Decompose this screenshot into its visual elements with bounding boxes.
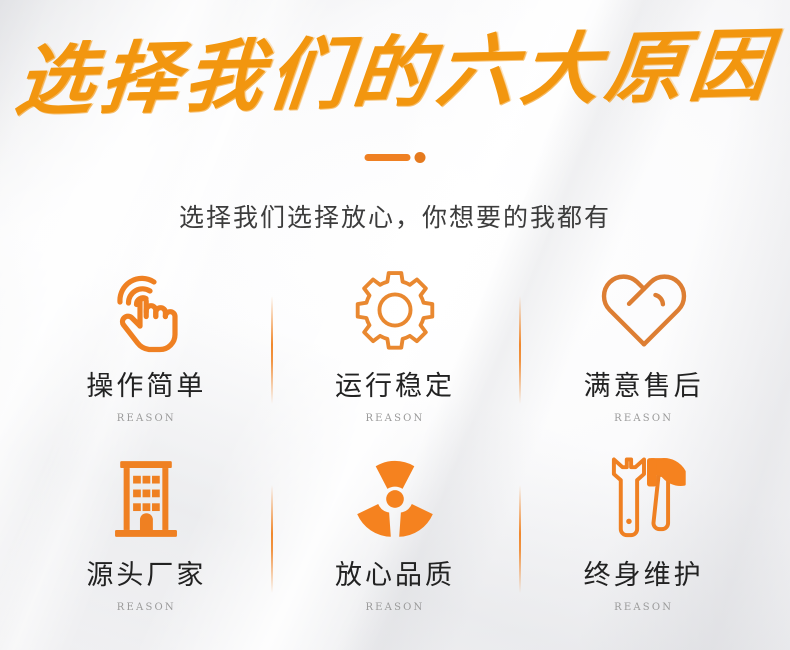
feature-item-operation-simple[interactable]: 操作简单 REASON [22,258,271,447]
wrench-hammer-icon [596,451,692,547]
feature-subtitle: REASON [117,602,176,613]
ornament-dot [415,152,426,163]
feature-title: 运行稳定 [335,364,455,403]
title-block: 选择我们的六大原因 [0,34,790,114]
feature-item-quality[interactable]: 放心品质 REASON [271,447,520,636]
promo-banner: 选择我们的六大原因 选择我们选择放心，你想要的我都有 [0,0,790,650]
feature-subtitle: REASON [365,413,424,424]
heart-icon [600,262,688,358]
page-title: 选择我们的六大原因 [0,26,790,122]
feature-title: 源头厂家 [86,553,206,592]
feature-item-stable-operation[interactable]: 运行稳定 REASON [271,258,520,447]
feature-title: 满意售后 [584,364,704,403]
feature-title: 操作简单 [86,364,206,403]
radiation-quality-icon [353,451,437,547]
feature-item-after-sales[interactable]: 满意售后 REASON [519,258,768,447]
touch-hand-icon [103,262,189,358]
factory-building-icon [103,451,189,547]
feature-title: 终身维护 [584,553,704,592]
feature-subtitle: REASON [117,413,176,424]
feature-subtitle: REASON [614,602,673,613]
ornament-bar [365,154,411,161]
feature-item-source-factory[interactable]: 源头厂家 REASON [22,447,271,636]
feature-title: 放心品质 [335,553,455,592]
gear-icon [353,262,437,358]
page-subtitle: 选择我们选择放心，你想要的我都有 [0,198,790,234]
feature-item-lifetime-maintenance[interactable]: 终身维护 REASON [519,447,768,636]
feature-subtitle: REASON [614,413,673,424]
feature-grid: 操作简单 REASON 运行稳定 REASON [22,258,768,636]
title-divider-ornament [365,152,426,163]
feature-subtitle: REASON [365,602,424,613]
